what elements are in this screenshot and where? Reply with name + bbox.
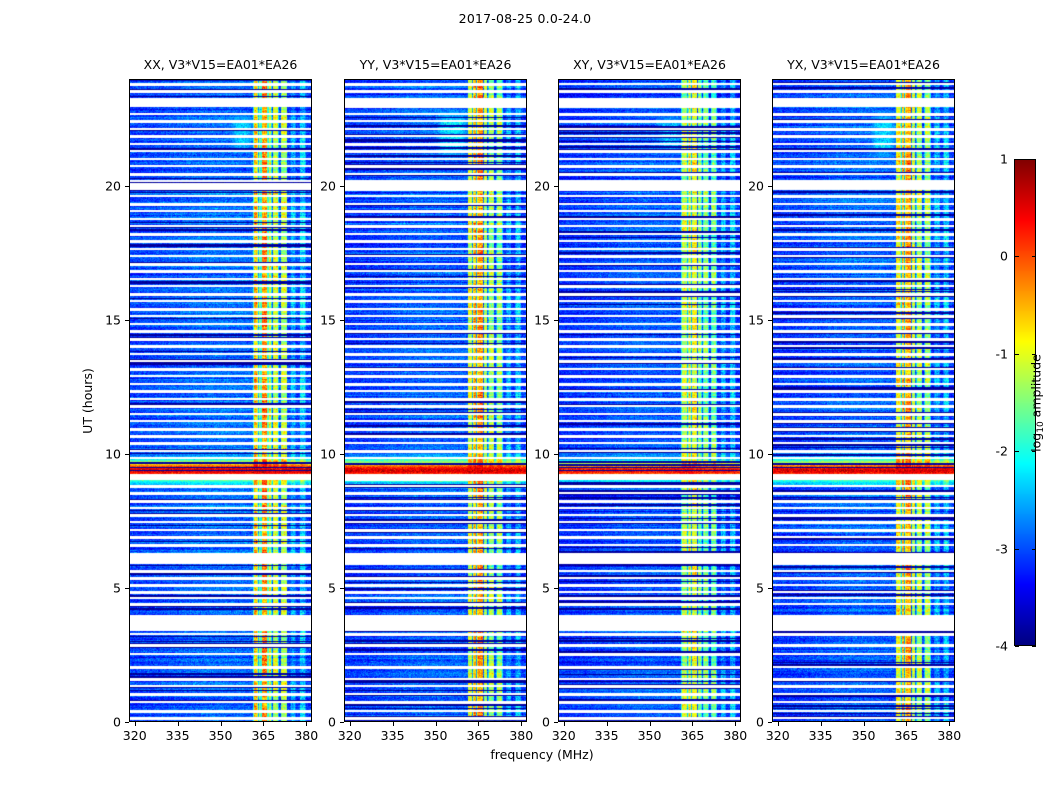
colorbar-tick-mark-1 [1032, 549, 1036, 550]
ytick-mark-yx-2 [768, 454, 772, 455]
xtick-label-xy-3: 365 [680, 728, 704, 743]
xtick-mark-xx-2 [221, 722, 222, 726]
colorbar-tick-label-3: -1 [990, 346, 1008, 361]
colorbar-tick-label-2: -2 [990, 444, 1008, 459]
xtick-mark-yy-2 [436, 722, 437, 726]
colorbar-tick-mark-in-2 [1015, 451, 1019, 452]
ytick-label-yx-4: 20 [728, 179, 764, 194]
ytick-mark-yy-1 [340, 588, 344, 589]
xtick-label-xx-4: 380 [294, 728, 318, 743]
xtick-mark-xx-3 [263, 722, 264, 726]
ytick-mark-xy-2 [554, 454, 558, 455]
ytick-label-xx-3: 15 [85, 313, 121, 328]
xtick-mark-xx-0 [135, 722, 136, 726]
colorbar-tick-mark-in-3 [1015, 354, 1019, 355]
ytick-label-yy-3: 15 [300, 313, 336, 328]
ytick-label-xy-0: 0 [514, 715, 550, 730]
ytick-mark-xx-1 [125, 588, 129, 589]
ytick-mark-yx-0 [768, 722, 772, 723]
ytick-label-xy-2: 10 [514, 447, 550, 462]
colorbar-tick-label-1: -3 [990, 541, 1008, 556]
colorbar-axis-label: log10 amplitude [1028, 354, 1046, 452]
spectrogram-panel-xx[interactable]: XX, V3*V15=EA01*EA26 [129, 79, 312, 722]
ytick-label-yy-2: 10 [300, 447, 336, 462]
xtick-mark-xy-3 [692, 722, 693, 726]
colorbar-tick-label-0: -4 [990, 639, 1008, 654]
ytick-mark-xy-0 [554, 722, 558, 723]
ytick-label-yy-0: 0 [300, 715, 336, 730]
panel-frame-xy [558, 79, 741, 722]
xtick-label-xy-0: 320 [552, 728, 576, 743]
xtick-mark-yx-2 [864, 722, 865, 726]
xtick-mark-xy-0 [564, 722, 565, 726]
panel-title-yx: YX, V3*V15=EA01*EA26 [787, 57, 940, 72]
ytick-mark-xx-3 [125, 320, 129, 321]
ytick-mark-yy-2 [340, 454, 344, 455]
xtick-mark-xy-1 [607, 722, 608, 726]
xtick-mark-yy-3 [478, 722, 479, 726]
panel-title-xy: XY, V3*V15=EA01*EA26 [573, 57, 726, 72]
xtick-mark-xy-2 [650, 722, 651, 726]
ytick-label-xx-1: 5 [85, 581, 121, 596]
xtick-label-yx-1: 335 [809, 728, 833, 743]
xtick-label-yy-0: 320 [338, 728, 362, 743]
ytick-label-xx-0: 0 [85, 715, 121, 730]
panel-frame-yy [344, 79, 527, 722]
xtick-mark-yx-4 [949, 722, 950, 726]
xtick-label-xx-0: 320 [123, 728, 147, 743]
xtick-label-xy-1: 335 [595, 728, 619, 743]
xtick-label-xy-2: 350 [638, 728, 662, 743]
spectrogram-panel-yx[interactable]: YX, V3*V15=EA01*EA26 [772, 79, 955, 722]
ytick-mark-yy-0 [340, 722, 344, 723]
xtick-mark-yx-3 [906, 722, 907, 726]
xtick-label-xx-1: 335 [166, 728, 190, 743]
xtick-label-yy-2: 350 [424, 728, 448, 743]
xtick-mark-yy-0 [350, 722, 351, 726]
ytick-mark-yx-3 [768, 320, 772, 321]
ytick-label-yy-1: 5 [300, 581, 336, 596]
xtick-label-yy-4: 380 [509, 728, 533, 743]
xtick-mark-yx-0 [778, 722, 779, 726]
xtick-label-xx-2: 350 [209, 728, 233, 743]
xtick-label-xy-4: 380 [723, 728, 747, 743]
xtick-label-yx-4: 380 [937, 728, 961, 743]
ytick-mark-xy-4 [554, 186, 558, 187]
ytick-label-xy-4: 20 [514, 179, 550, 194]
xtick-mark-yx-1 [821, 722, 822, 726]
colorbar-tick-mark-in-1 [1015, 549, 1019, 550]
colorbar-tick-mark-in-5 [1015, 159, 1019, 160]
spectrogram-panel-xy[interactable]: XY, V3*V15=EA01*EA26 [558, 79, 741, 722]
ytick-label-xy-1: 5 [514, 581, 550, 596]
ytick-label-xx-2: 10 [85, 447, 121, 462]
ytick-label-yx-3: 15 [728, 313, 764, 328]
colorbar-tick-mark-5 [1032, 159, 1036, 160]
ytick-mark-yy-4 [340, 186, 344, 187]
xtick-label-yx-0: 320 [766, 728, 790, 743]
ytick-mark-xx-4 [125, 186, 129, 187]
ytick-mark-yx-4 [768, 186, 772, 187]
panel-frame-yx [772, 79, 955, 722]
ytick-label-xy-3: 15 [514, 313, 550, 328]
xtick-label-yy-3: 365 [466, 728, 490, 743]
xtick-mark-yy-1 [393, 722, 394, 726]
panel-title-yy: YY, V3*V15=EA01*EA26 [360, 57, 512, 72]
x-axis-label: frequency (MHz) [129, 747, 955, 762]
ytick-mark-xy-3 [554, 320, 558, 321]
colorbar-tick-mark-in-0 [1015, 646, 1019, 647]
ytick-mark-yy-3 [340, 320, 344, 321]
spectrogram-panel-yy[interactable]: YY, V3*V15=EA01*EA26 [344, 79, 527, 722]
xtick-label-xx-3: 365 [251, 728, 275, 743]
y-axis-label: UT (hours) [80, 368, 95, 434]
ytick-mark-xx-2 [125, 454, 129, 455]
colorbar-tick-mark-in-4 [1015, 256, 1019, 257]
colorbar-tick-mark-4 [1032, 256, 1036, 257]
colorbar-tick-label-4: 0 [990, 249, 1008, 264]
figure-canvas: 2017-08-25 0.0-24.0 XX, V3*V15=EA01*EA26… [0, 0, 1050, 800]
figure-suptitle: 2017-08-25 0.0-24.0 [0, 11, 1050, 26]
ytick-label-yy-4: 20 [300, 179, 336, 194]
colorbar-tick-mark-0 [1032, 646, 1036, 647]
xtick-label-yx-3: 365 [894, 728, 918, 743]
xtick-label-yx-2: 350 [852, 728, 876, 743]
ytick-mark-yx-1 [768, 588, 772, 589]
xtick-label-yy-1: 335 [381, 728, 405, 743]
panel-frame-xx [129, 79, 312, 722]
ytick-label-yx-1: 5 [728, 581, 764, 596]
ytick-label-xx-4: 20 [85, 179, 121, 194]
ytick-mark-xx-0 [125, 722, 129, 723]
ytick-label-yx-0: 0 [728, 715, 764, 730]
colorbar-tick-label-5: 1 [990, 152, 1008, 167]
ytick-label-yx-2: 10 [728, 447, 764, 462]
panel-title-xx: XX, V3*V15=EA01*EA26 [144, 57, 298, 72]
ytick-mark-xy-1 [554, 588, 558, 589]
xtick-mark-xx-1 [178, 722, 179, 726]
